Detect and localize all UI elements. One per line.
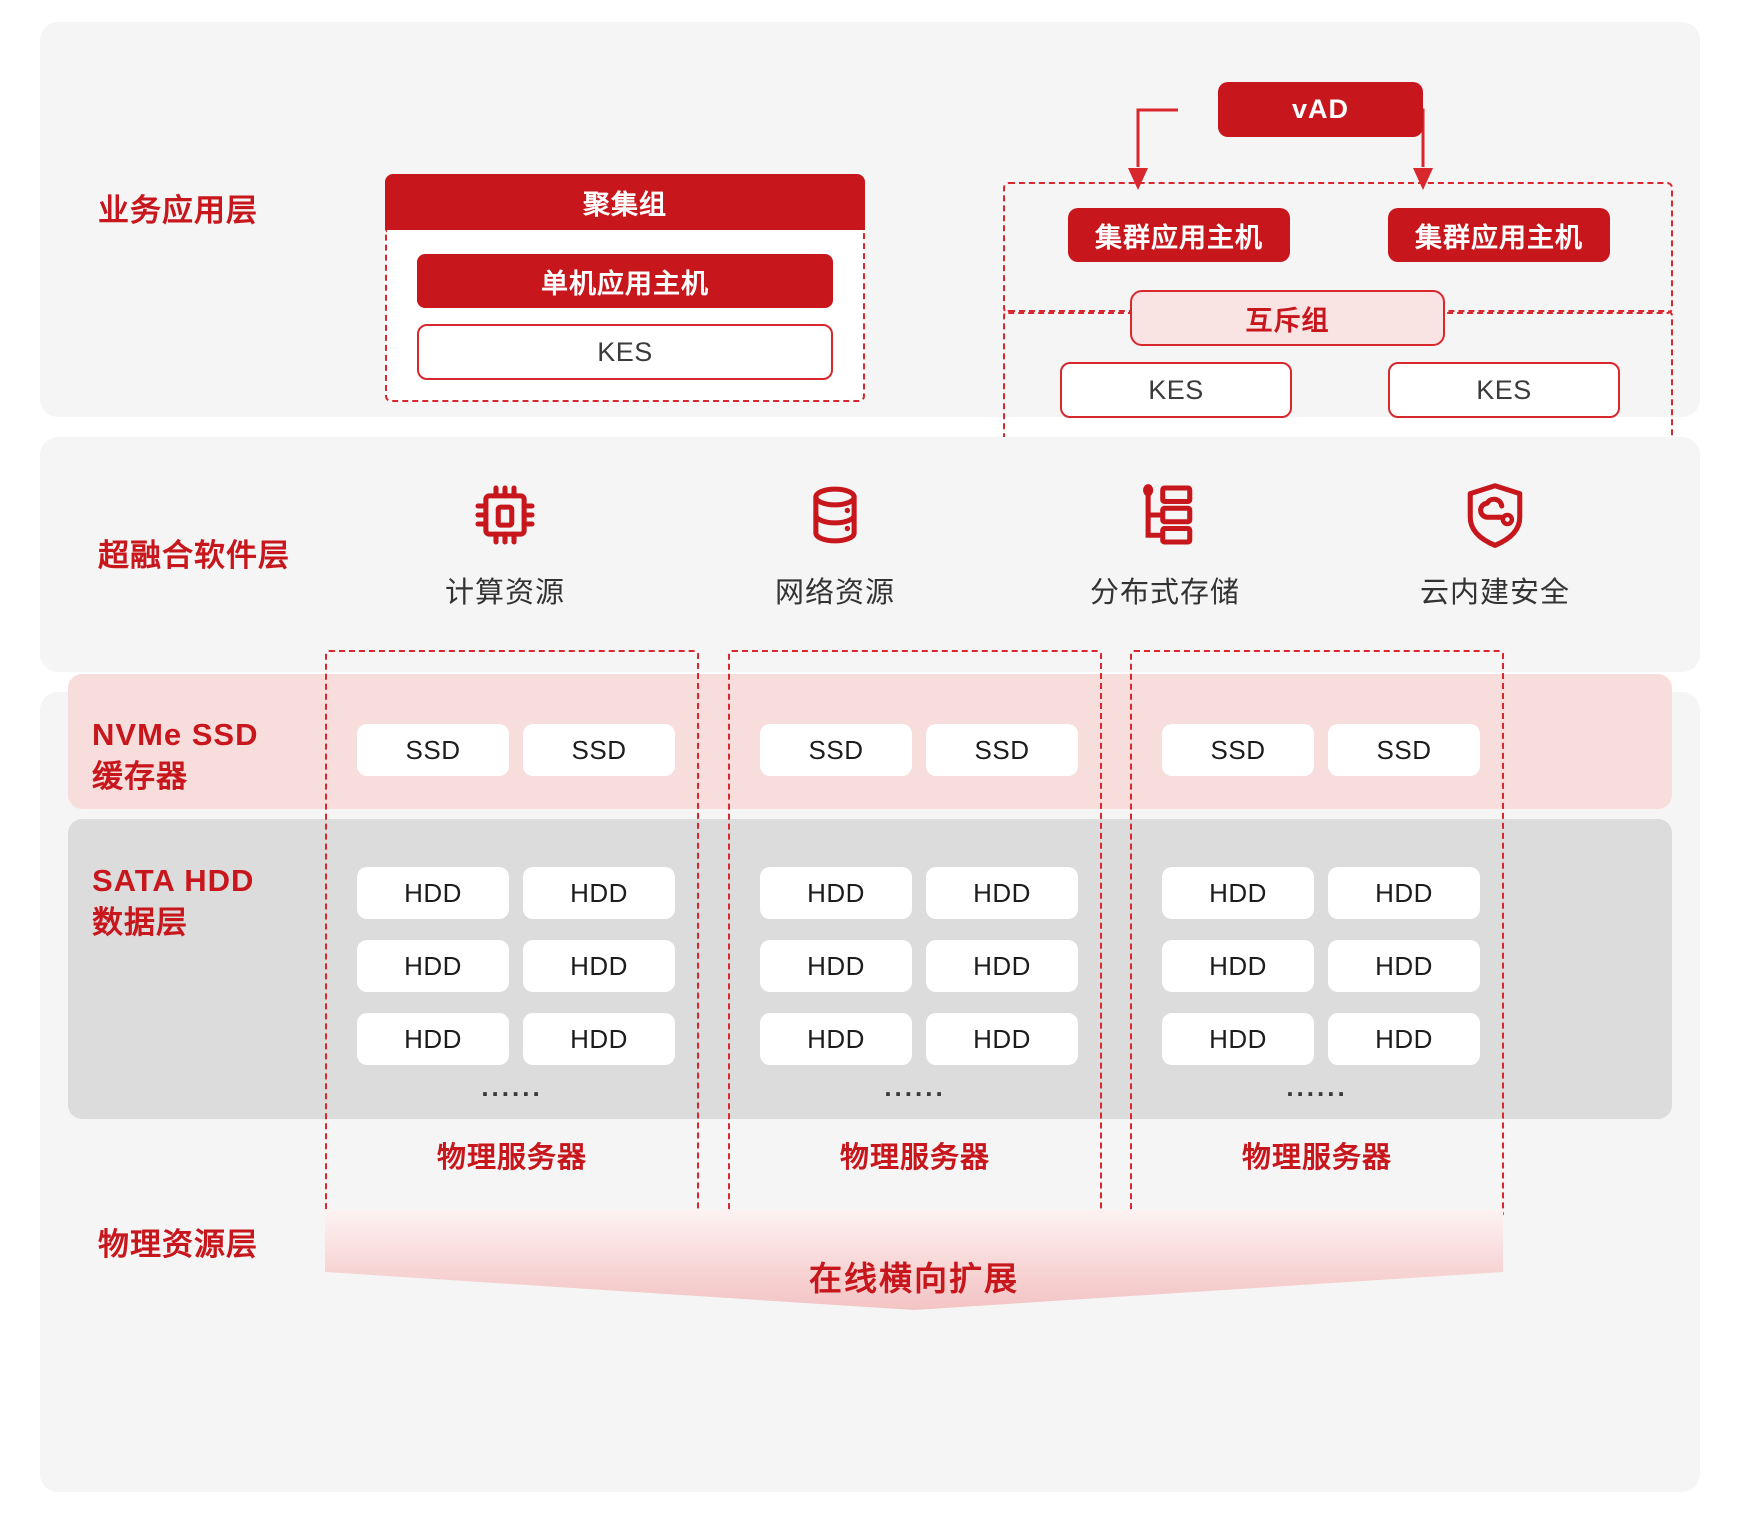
- scale-out-banner: 在线横向扩展: [325, 1210, 1503, 1310]
- layer-label-software: 超融合软件层: [98, 535, 378, 577]
- more-disks-ellipsis: ......: [1132, 1072, 1502, 1103]
- cloud-shield-security-icon: [1459, 479, 1531, 551]
- cpu-chip-icon: [469, 479, 541, 551]
- hdd-slot: HDD: [760, 940, 912, 992]
- physical-server-caption: 物理服务器: [327, 1134, 697, 1176]
- nvme-ssd-band-label-line1: NVMe SSD: [92, 714, 258, 756]
- hdd-slot: HDD: [357, 1013, 509, 1065]
- more-disks-ellipsis: ......: [730, 1072, 1100, 1103]
- software-item-label: 分布式存储: [1090, 569, 1240, 611]
- hdd-slot: HDD: [760, 1013, 912, 1065]
- software-item-security: 云内建安全: [1380, 479, 1610, 611]
- hdd-slot: HDD: [1328, 1013, 1480, 1065]
- ssd-slot: SSD: [926, 724, 1078, 776]
- ssd-slot: SSD: [523, 724, 675, 776]
- software-item-label: 网络资源: [775, 569, 895, 611]
- hdd-slot: HDD: [1328, 940, 1480, 992]
- physical-server-caption: 物理服务器: [730, 1134, 1100, 1176]
- more-disks-ellipsis: ......: [327, 1072, 697, 1103]
- hdd-slot: HDD: [523, 940, 675, 992]
- hdd-slot: HDD: [357, 867, 509, 919]
- hdd-slot: HDD: [1162, 867, 1314, 919]
- hdd-slot: HDD: [1328, 867, 1480, 919]
- vad-node: vAD: [1218, 82, 1423, 137]
- hdd-slot: HDD: [926, 1013, 1078, 1065]
- hdd-slot: HDD: [1162, 1013, 1314, 1065]
- physical-server-box: SSD SSD HDD HDD HDD HDD HDD HDD ...... 物…: [728, 650, 1102, 1217]
- physical-server-caption: 物理服务器: [1132, 1134, 1502, 1176]
- software-item-network: 网络资源: [720, 479, 950, 611]
- software-item-label: 计算资源: [445, 569, 565, 611]
- database-network-icon: [799, 479, 871, 551]
- hdd-slot: HDD: [760, 867, 912, 919]
- sata-hdd-band-label: SATA HDD 数据层: [92, 860, 254, 944]
- sata-hdd-band-label-line1: SATA HDD: [92, 860, 254, 902]
- business-application-layer-panel: 业务应用层 聚集组 单机应用主机 KES vAD 集群应用主机 集群应用主机 互…: [40, 22, 1700, 417]
- physical-server-box: SSD SSD HDD HDD HDD HDD HDD HDD ...... 物…: [1130, 650, 1504, 1217]
- hdd-slot: HDD: [926, 867, 1078, 919]
- sata-hdd-band-label-line2: 数据层: [92, 902, 254, 944]
- hdd-slot: HDD: [523, 1013, 675, 1065]
- single-application-host: 单机应用主机: [417, 254, 833, 308]
- hyperconverged-software-layer-panel: 超融合软件层 计算资源: [40, 437, 1700, 672]
- cluster-application-host-2: 集群应用主机: [1388, 208, 1610, 262]
- mutex-group-badge: 互斥组: [1130, 290, 1445, 346]
- distributed-storage-icon: [1129, 479, 1201, 551]
- aggregate-group-header: 聚集组: [385, 174, 865, 230]
- physical-resource-layer-panel: 物理资源层 NVMe SSD 缓存器 SATA HDD 数据层 SSD SSD …: [40, 692, 1700, 1492]
- architecture-diagram: 业务应用层 聚集组 单机应用主机 KES vAD 集群应用主机 集群应用主机 互…: [0, 0, 1740, 1528]
- kes-cluster-node-2: KES: [1388, 362, 1620, 418]
- kes-single-node: KES: [417, 324, 833, 380]
- hdd-slot: HDD: [926, 940, 1078, 992]
- layer-label-physical: 物理资源层: [98, 1224, 358, 1266]
- scale-out-label: 在线横向扩展: [809, 1252, 1019, 1300]
- ssd-slot: SSD: [760, 724, 912, 776]
- nvme-ssd-band-label-line2: 缓存器: [92, 756, 258, 798]
- ssd-slot: SSD: [1162, 724, 1314, 776]
- hdd-slot: HDD: [523, 867, 675, 919]
- kes-cluster-node-1: KES: [1060, 362, 1292, 418]
- physical-server-box: SSD SSD HDD HDD HDD HDD HDD HDD ...... 物…: [325, 650, 699, 1217]
- nvme-ssd-band-label: NVMe SSD 缓存器: [92, 714, 258, 798]
- software-item-label: 云内建安全: [1420, 569, 1570, 611]
- ssd-slot: SSD: [1328, 724, 1480, 776]
- layer-label-business: 业务应用层: [98, 190, 348, 232]
- ssd-slot: SSD: [357, 724, 509, 776]
- cluster-application-host-1: 集群应用主机: [1068, 208, 1290, 262]
- hdd-slot: HDD: [1162, 940, 1314, 992]
- software-item-compute: 计算资源: [390, 479, 620, 611]
- software-item-storage: 分布式存储: [1050, 479, 1280, 611]
- hdd-slot: HDD: [357, 940, 509, 992]
